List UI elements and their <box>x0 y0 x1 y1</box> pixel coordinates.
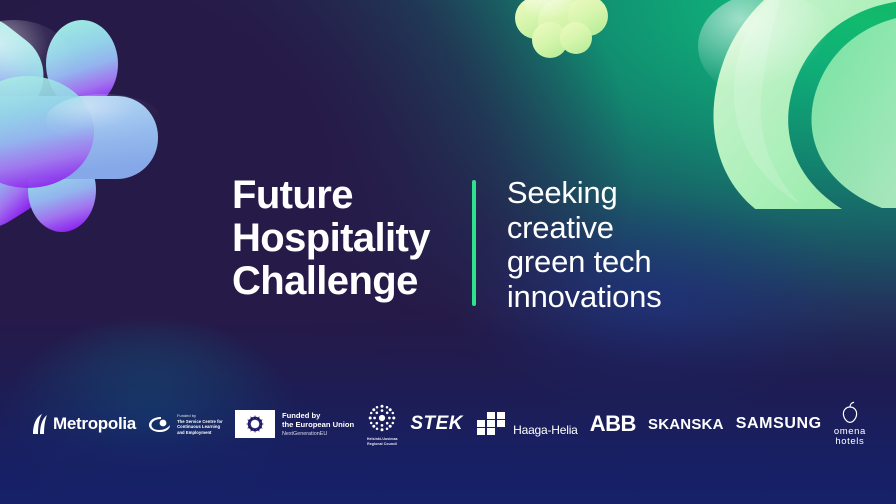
omena-wordmark: omena hotels <box>834 427 866 448</box>
stek-wordmark: STEK <box>410 413 463 435</box>
samsung-wordmark: SAMSUNG <box>736 415 822 433</box>
eu-subline: NextGenerationEU <box>282 431 354 437</box>
logo-abb[interactable]: ABB <box>590 411 636 437</box>
page-subtitle: Seeking creative green tech innovations <box>507 176 662 314</box>
poster-canvas: Future Hospitality Challenge Seeking cre… <box>0 0 896 504</box>
metropolia-swoosh-icon <box>30 413 50 435</box>
skanska-wordmark: SKANSKA <box>648 416 724 433</box>
omena-apple-icon <box>839 401 861 425</box>
logo-samsung[interactable]: SAMSUNG <box>736 415 822 433</box>
haaga-helia-wordmark: Haaga-Helia <box>513 423 578 437</box>
logo-omena-hotels[interactable]: omena hotels <box>834 401 866 448</box>
page-title: Future Hospitality Challenge <box>232 174 430 303</box>
service-centre-mark-icon <box>148 414 172 434</box>
cloud-shape-decoration <box>510 0 620 63</box>
headline-block: Future Hospitality Challenge Seeking cre… <box>232 174 662 314</box>
logo-metropolia[interactable]: Metropolia <box>30 413 136 435</box>
eu-wordmark: Funded by the European Union <box>282 411 354 430</box>
logo-helsinki-uusimaa[interactable]: Helsinki-Uusimaa Regional Council <box>366 402 398 446</box>
logo-skanska[interactable]: SKANSKA <box>648 416 724 433</box>
metropolia-wordmark: Metropolia <box>53 414 136 434</box>
helsinki-uusimaa-wordmark: Helsinki-Uusimaa Regional Council <box>367 437 398 446</box>
service-centre-wordmark: The Service Centre for Continuous Learni… <box>177 419 223 435</box>
service-centre-kicker: Funded by <box>177 413 223 418</box>
title-divider <box>472 180 476 306</box>
helsinki-uusimaa-mark-icon <box>366 402 398 434</box>
logo-service-centre[interactable]: Funded by The Service Centre for Continu… <box>148 413 223 435</box>
logo-stek[interactable]: STEK <box>410 413 463 435</box>
jack-shape-decoration <box>0 8 199 233</box>
logo-haaga-helia[interactable]: Haaga-Helia <box>475 412 578 436</box>
abb-wordmark: ABB <box>590 411 636 437</box>
haaga-helia-pixel-icon <box>475 412 509 436</box>
eu-flag-icon <box>235 410 275 438</box>
torus-shape-decoration <box>636 0 896 209</box>
partner-logo-strip: Metropolia Funded by The Service Centre … <box>0 396 896 452</box>
logo-european-union[interactable]: Funded by the European Union NextGenerat… <box>235 410 354 438</box>
